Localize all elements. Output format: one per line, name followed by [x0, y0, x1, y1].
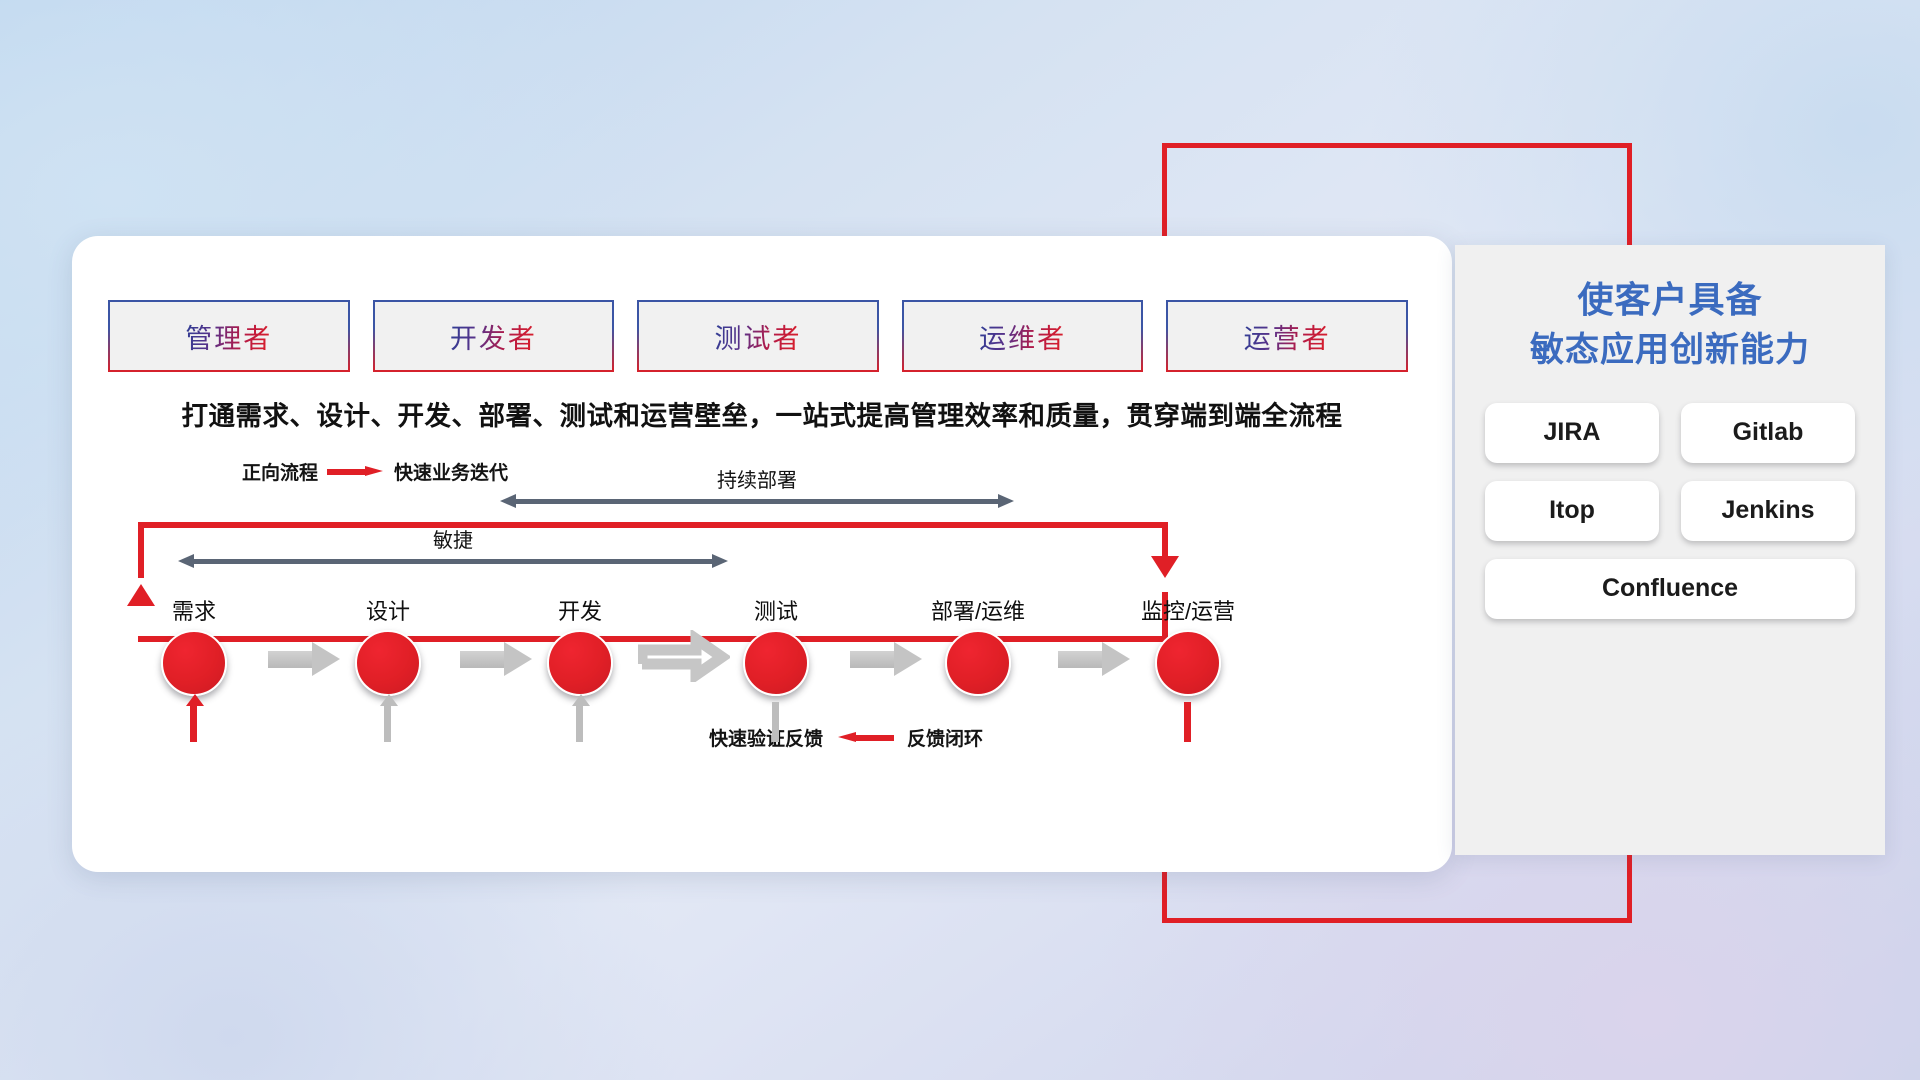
role-box-row: 管理者 开发者 测试者 运维者 运营者 [108, 300, 1408, 372]
role-box-developer[interactable]: 开发者 [373, 300, 615, 372]
bracket-top-segment [1162, 143, 1632, 148]
tool-chip-jenkins[interactable]: Jenkins [1681, 481, 1855, 541]
tool-chip-itop[interactable]: Itop [1485, 481, 1659, 541]
stage-dot-icon [743, 630, 809, 696]
loop-down-arrowhead-icon [1151, 556, 1179, 578]
panel-title-line-1: 使客户具备 [1577, 279, 1762, 320]
role-box-operations[interactable]: 运维者 [902, 300, 1144, 372]
forward-flow-from-label: 正向流程 [242, 458, 318, 485]
double-headed-arrow-icon [500, 494, 1014, 508]
pipeline-card: 管理者 开发者 测试者 运维者 运营者 打通需求、设计、开发、部署、测试和运营壁… [72, 236, 1452, 872]
stage-testing[interactable]: 测试 [716, 594, 836, 696]
double-headed-arrow-icon [178, 554, 728, 568]
stage-requirements[interactable]: 需求 [134, 594, 254, 696]
capability-panel: 使客户具备 敏态应用创新能力 JIRA Gitlab Itop Jenkins … [1455, 245, 1885, 855]
stage-label: 设计 [328, 594, 448, 626]
role-label: 运维者 [979, 317, 1066, 356]
span-continuous-deployment: 持续部署 [500, 494, 1014, 508]
loop-left-down-line [138, 522, 144, 578]
stage-tick-testing [772, 702, 779, 742]
stage-label: 开发 [520, 594, 640, 626]
feedback-to-label: 反馈闭环 [907, 724, 983, 751]
stage-dot-icon [945, 630, 1011, 696]
tool-grid: JIRA Gitlab Itop Jenkins Confluence [1455, 373, 1885, 619]
panel-title: 使客户具备 敏态应用创新能力 [1455, 245, 1885, 373]
tool-chip-gitlab[interactable]: Gitlab [1681, 403, 1855, 463]
role-box-tester[interactable]: 测试者 [637, 300, 879, 372]
stage-label: 部署/运维 [898, 594, 1058, 626]
tool-chip-jira[interactable]: JIRA [1485, 403, 1659, 463]
loop-right-down-line [1162, 522, 1168, 560]
stage-tick-development [576, 702, 583, 742]
feedback-loop-legend: 快速验证反馈 反馈闭环 [709, 724, 983, 751]
stage-label: 监控/运营 [1108, 594, 1268, 626]
stage-tick-arrowhead-icon [380, 694, 398, 706]
role-box-manager[interactable]: 管理者 [108, 300, 350, 372]
feedback-from-label: 快速验证反馈 [709, 724, 823, 751]
stage-dot-icon [1155, 630, 1221, 696]
stage-dot-icon [161, 630, 227, 696]
role-label: 运营者 [1244, 317, 1331, 356]
role-box-business-ops[interactable]: 运营者 [1166, 300, 1408, 372]
stage-tick-design [384, 702, 391, 742]
span-label: 敏捷 [178, 524, 728, 553]
headline-text: 打通需求、设计、开发、部署、测试和运营壁垒，一站式提高管理效率和质量，贯穿端到端… [72, 394, 1452, 433]
role-label: 管理者 [185, 317, 272, 356]
tool-chip-confluence[interactable]: Confluence [1485, 559, 1855, 619]
stage-tick-arrowhead-icon [186, 694, 204, 706]
stage-tick-requirements [190, 702, 197, 742]
role-label: 测试者 [714, 317, 801, 356]
stage-development[interactable]: 开发 [520, 594, 640, 696]
stage-dot-icon [547, 630, 613, 696]
stage-monitor-operate[interactable]: 监控/运营 [1108, 594, 1268, 696]
role-label: 开发者 [450, 317, 537, 356]
panel-title-line-2: 敏态应用创新能力 [1455, 329, 1885, 373]
right-arrow-icon [327, 466, 385, 477]
stage-label: 测试 [716, 594, 836, 626]
stage-label: 需求 [134, 594, 254, 626]
span-agile: 敏捷 [178, 554, 728, 568]
bracket-bottom-segment [1162, 918, 1632, 923]
span-label: 持续部署 [500, 464, 1014, 493]
forward-flow-legend: 正向流程 快速业务迭代 [242, 458, 508, 485]
stage-tick-monitor [1184, 702, 1191, 742]
stage-dot-icon [355, 630, 421, 696]
stage-tick-arrowhead-icon [572, 694, 590, 706]
stage-deploy-ops[interactable]: 部署/运维 [898, 594, 1058, 696]
stage-row: 需求 设计 开发 测试 [108, 594, 1408, 714]
left-arrow-icon [836, 732, 894, 743]
stage-design[interactable]: 设计 [328, 594, 448, 696]
forward-flow-to-label: 快速业务迭代 [394, 458, 508, 485]
